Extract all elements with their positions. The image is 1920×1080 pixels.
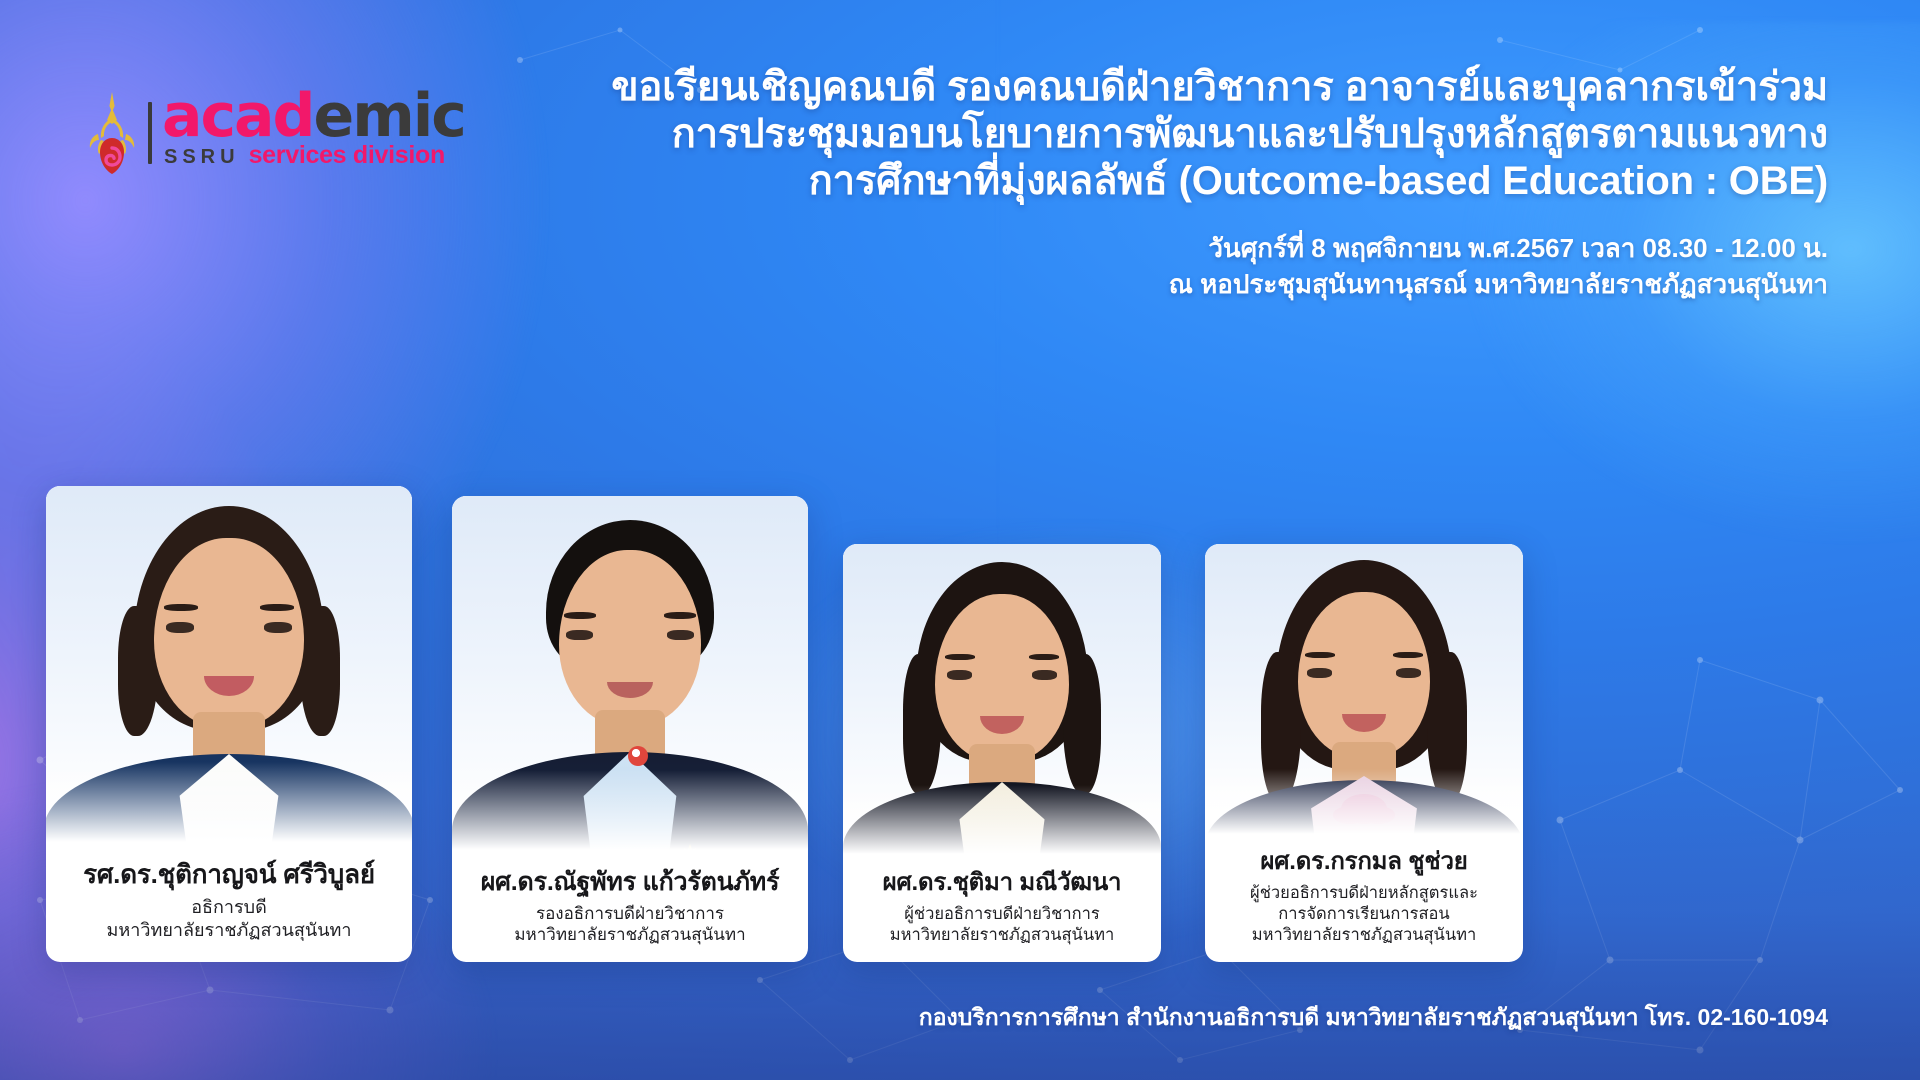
speaker-role: ผู้ช่วยอธิการบดีฝ่ายหลักสูตรและ: [1221, 883, 1507, 904]
speaker-card: ผศ.ดร.ชุติมา มณีวัฒนา ผู้ช่วยอธิการบดีฝ่…: [843, 544, 1161, 962]
speaker-card: รศ.ดร.ชุติกาญจน์ ศรีวิบูลย์ อธิการบดี มห…: [46, 486, 412, 962]
speaker-card: ผศ.ดร.กรกมล ชูช่วย ผู้ช่วยอธิการบดีฝ่ายห…: [1205, 544, 1523, 962]
speaker-photo: [46, 486, 412, 859]
speaker-card-row: รศ.ดร.ชุติกาญจน์ ศรีวิบูลย์ อธิการบดี มห…: [0, 362, 1920, 962]
speaker-caption: ผศ.ดร.ชุติมา มณีวัฒนา ผู้ช่วยอธิการบดีฝ่…: [843, 869, 1161, 962]
logo-services-division-text: services division: [249, 141, 445, 170]
footer-contact: กองบริการการศึกษา สำนักงานอธิการบดี มหาว…: [919, 1000, 1828, 1036]
event-venue: ณ หอประชุมสุนันทานุสรณ์ มหาวิทยาลัยราชภั…: [528, 266, 1828, 303]
speaker-photo: [1205, 544, 1523, 848]
event-datetime: วันศุกร์ที่ 8 พฤศจิกายน พ.ศ.2567 เวลา 08…: [528, 230, 1828, 267]
speaker-name: ผศ.ดร.ณัฐพัทร แก้วรัตนภัทร์: [468, 867, 792, 897]
speaker-photo: [843, 544, 1161, 869]
speaker-name: ผศ.ดร.กรกมล ชูช่วย: [1221, 848, 1507, 877]
speaker-affiliation: มหาวิทยาลัยราชภัฏสวนสุนันทา: [1221, 925, 1507, 946]
logo-divider: [148, 102, 152, 164]
event-meta-block: วันศุกร์ที่ 8 พฤศจิกายน พ.ศ.2567 เวลา 08…: [528, 230, 1828, 304]
speaker-affiliation: มหาวิทยาลัยราชภัฏสวนสุนันทา: [859, 925, 1145, 946]
speaker-caption: ผศ.ดร.กรกมล ชูช่วย ผู้ช่วยอธิการบดีฝ่ายห…: [1205, 848, 1523, 962]
speaker-affiliation: มหาวิทยาลัยราชภัฏสวนสุนันทา: [468, 924, 792, 946]
title-line-2: การประชุมมอบนโยบายการพัฒนาและปรับปรุงหลั…: [528, 111, 1828, 158]
lapel-badge-icon: [628, 746, 648, 766]
speaker-name: ผศ.ดร.ชุติมา มณีวัฒนา: [859, 869, 1145, 898]
title-line-3: การศึกษาที่มุ่งผลลัพธ์ (Outcome-based Ed…: [528, 158, 1828, 205]
speaker-role: อธิการบดี: [62, 896, 396, 919]
title-line-1: ขอเรียนเชิญคณบดี รองคณบดีฝ่ายวิชาการ อาจ…: [528, 64, 1828, 111]
speaker-affiliation: มหาวิทยาลัยราชภัฏสวนสุนันทา: [62, 919, 396, 942]
header-text-block: ขอเรียนเชิญคณบดี รองคณบดีฝ่ายวิชาการ อาจ…: [528, 64, 1828, 303]
speaker-role-cont: การจัดการเรียนการสอน: [1221, 904, 1507, 925]
logo-ssru-text: SSRU: [164, 146, 240, 169]
speaker-caption: ผศ.ดร.ณัฐพัทร แก้วรัตนภัทร์ รองอธิการบดี…: [452, 867, 808, 963]
speaker-role: ผู้ช่วยอธิการบดีฝ่ายวิชาการ: [859, 904, 1145, 925]
speaker-card: ผศ.ดร.ณัฐพัทร แก้วรัตนภัทร์ รองอธิการบดี…: [452, 496, 808, 962]
brand-logo: academic SSRU services division: [86, 88, 465, 176]
speaker-name: รศ.ดร.ชุติกาญจน์ ศรีวิบูลย์: [62, 859, 396, 890]
speaker-photo: [452, 496, 808, 867]
speaker-role: รองอธิการบดีฝ่ายวิชาการ: [468, 903, 792, 925]
poster-canvas: academic SSRU services division ขอเรียนเ…: [0, 0, 1920, 1080]
speaker-caption: รศ.ดร.ชุติกาญจน์ ศรีวิบูลย์ อธิการบดี มห…: [46, 859, 412, 962]
logo-wordmark: academic: [162, 88, 465, 145]
ssru-crest-icon: [86, 90, 138, 176]
